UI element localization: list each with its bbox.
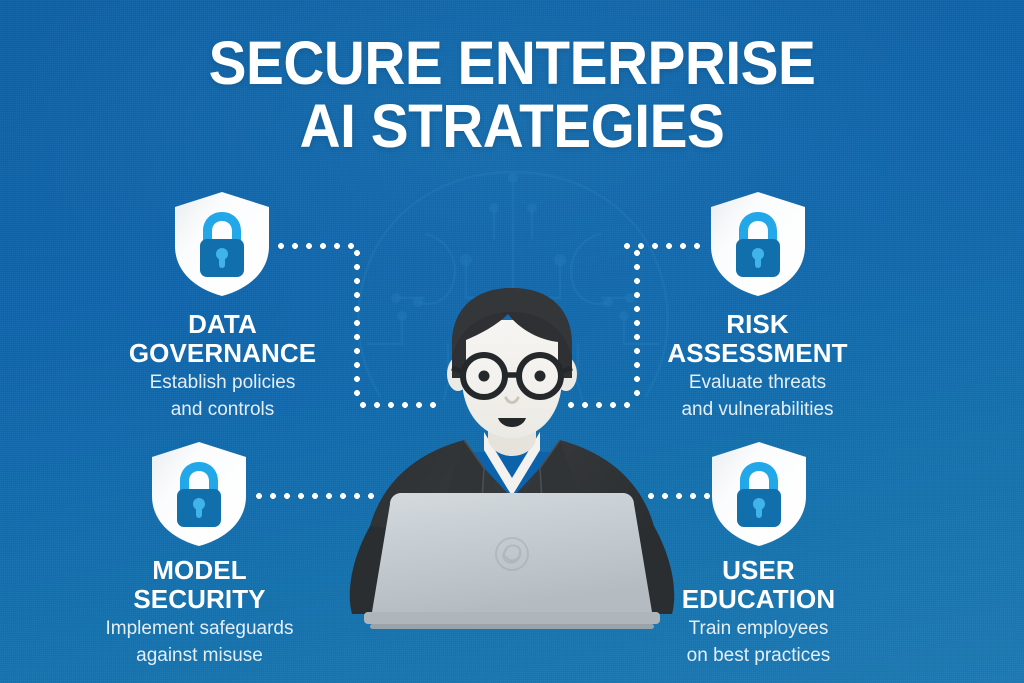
title-line-1: SECURE ENTERPRISE [36,32,988,95]
title-line-2: AI STRATEGIES [36,95,988,158]
item-description-line-2: and controls [80,398,365,421]
item-description-line-2: and vulnerabilities [615,398,900,421]
page-title: SECURE ENTERPRISE AI STRATEGIES [0,32,1024,158]
item-heading-line-2: GOVERNANCE [80,339,365,368]
item-text-data-governance: DATA GOVERNANCE Establish policies and c… [80,310,365,421]
item-description-line-1: Implement safeguards [57,617,342,640]
item-heading-line-2: EDUCATION [616,585,901,614]
item-heading-line-2: ASSESSMENT [615,339,900,368]
item-heading-line-2: SECURITY [57,585,342,614]
shield-lock-icon-model-security[interactable] [148,440,250,548]
shield-lock-icon-user-education[interactable] [708,440,810,548]
connector-segment-horizontal-top [274,243,360,249]
item-heading-line-1: USER [616,556,901,585]
item-description-line-2: on best practices [616,644,901,667]
item-heading-line-1: RISK [615,310,900,339]
item-text-user-education: USER EDUCATION Train employees on best p… [616,556,901,667]
connector-segment-horizontal-top [620,243,708,249]
item-description-line-1: Establish policies [80,371,365,394]
item-heading-line-1: MODEL [57,556,342,585]
item-description-line-2: against misuse [57,644,342,667]
person-head [447,288,577,438]
item-text-model-security: MODEL SECURITY Implement safeguards agai… [57,556,342,667]
item-description-line-1: Evaluate threats [615,371,900,394]
shield-lock-icon-data-governance[interactable] [171,190,273,298]
infographic-canvas: SECURE ENTERPRISE AI STRATEGIES [0,0,1024,683]
shield-lock-icon-risk-assessment[interactable] [707,190,809,298]
item-heading-line-1: DATA [80,310,365,339]
item-text-risk-assessment: RISK ASSESSMENT Evaluate threats and vul… [615,310,900,421]
item-description-line-1: Train employees [616,617,901,640]
